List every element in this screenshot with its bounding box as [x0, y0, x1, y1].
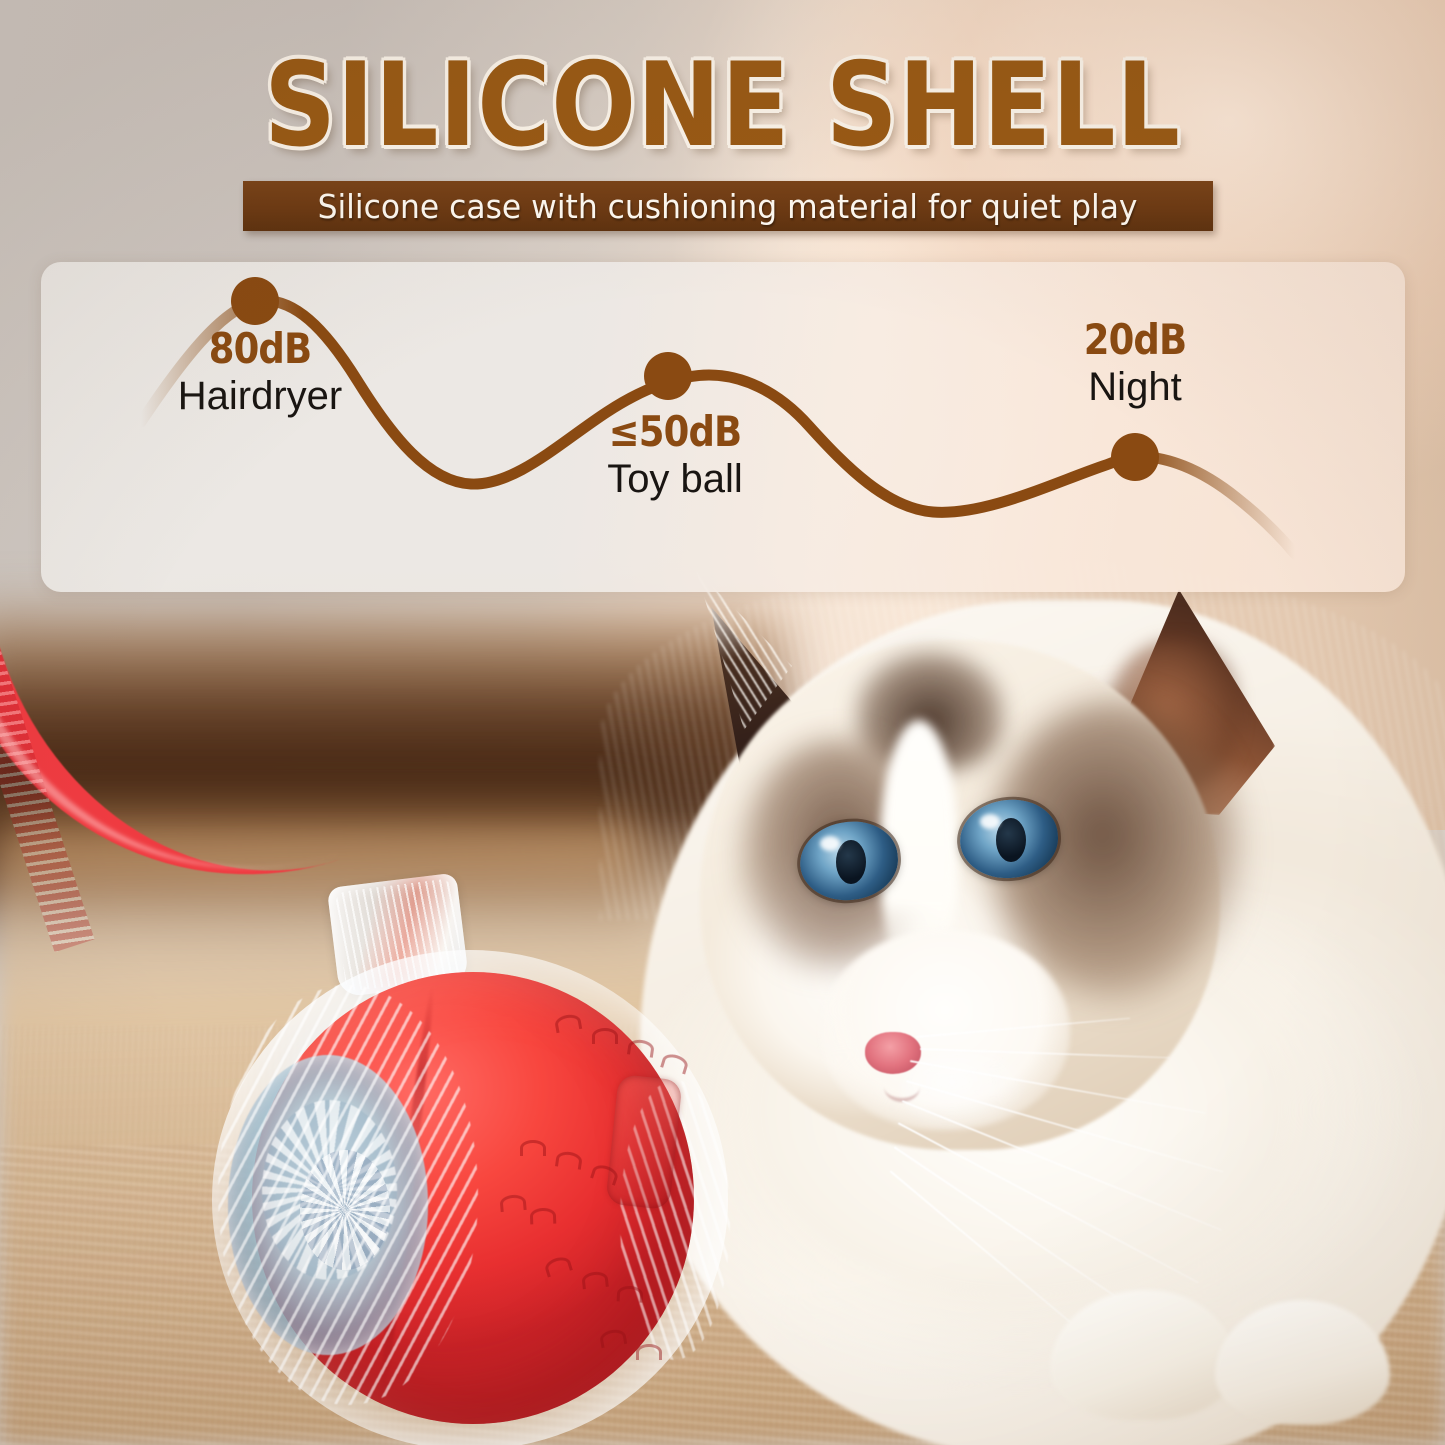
label-night-name: Night — [1000, 364, 1270, 410]
paw-print-mark — [636, 1344, 662, 1360]
label-toyball-db: ≤50dB — [547, 410, 802, 454]
cat-eye-highlight-right — [980, 814, 1000, 829]
label-hairdryer-name: Hairdryer — [120, 373, 400, 419]
whisker — [916, 1017, 1130, 1038]
page-title: SILICONE SHELL — [101, 38, 1344, 173]
cat-pupil-left — [836, 840, 866, 884]
paw-print-mark — [530, 1208, 557, 1225]
data-point-hairdryer — [231, 277, 279, 325]
paw-print-mark — [592, 1028, 618, 1044]
cat-pupil-right — [996, 818, 1026, 862]
subtitle-banner: Silicone case with cushioning material f… — [243, 181, 1213, 231]
label-night-db: 20dB — [1016, 318, 1254, 362]
subtitle-text: Silicone case with cushioning material f… — [318, 187, 1138, 226]
paw-print-mark — [499, 1194, 526, 1212]
label-hairdryer: 80dB Hairdryer — [120, 327, 400, 419]
shell-streaks-left — [218, 985, 478, 1405]
data-point-night — [1111, 433, 1159, 481]
label-toyball: ≤50dB Toy ball — [530, 410, 820, 502]
label-night: 20dB Night — [1000, 318, 1270, 410]
whisker — [910, 1060, 1206, 1114]
data-point-toyball — [644, 352, 692, 400]
label-hairdryer-db: 80dB — [137, 327, 383, 371]
toy-ball-button — [605, 1074, 682, 1210]
whisker — [920, 1048, 1170, 1059]
paw-print-mark — [520, 1140, 546, 1156]
label-toyball-name: Toy ball — [530, 456, 820, 502]
cat-eye-highlight-left — [820, 836, 840, 851]
whisker — [906, 1080, 1224, 1173]
cat-whiskers — [880, 1000, 1400, 1310]
paw-print-mark — [617, 1285, 644, 1302]
